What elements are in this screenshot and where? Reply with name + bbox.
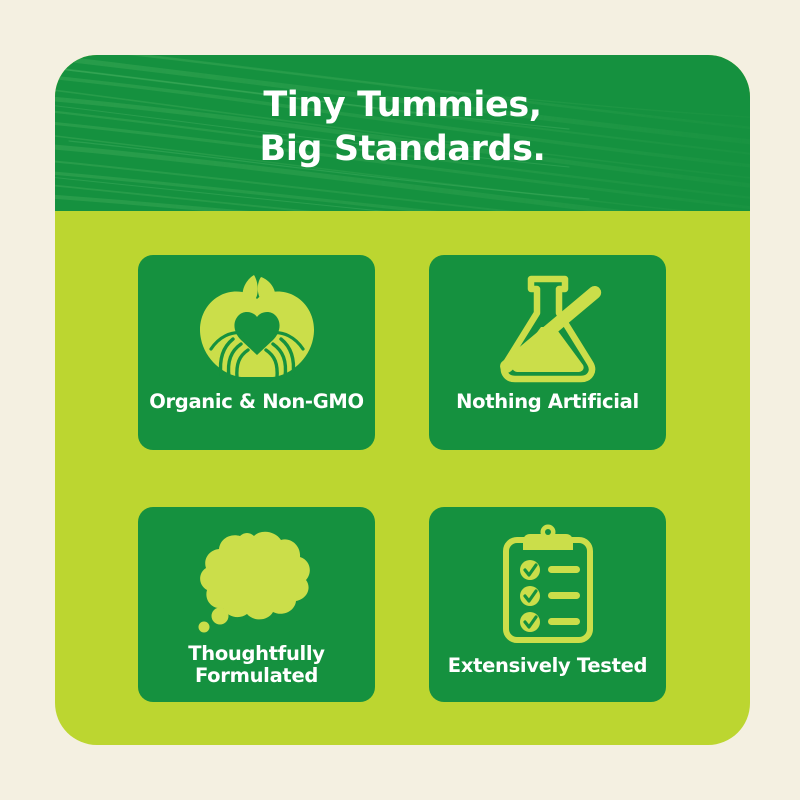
icon-container [191,263,323,391]
headline-line-1: Tiny Tummies, [263,85,541,125]
card-organic-non-gmo[interactable]: Organic & Non-GMO [138,255,375,450]
headline-line-2: Big Standards. [55,127,750,171]
card-thoughtfully-formulated[interactable]: Thoughtfully Formulated [138,507,375,702]
icon-container [194,515,320,643]
card-label-line-1: Thoughtfully [188,642,324,665]
card-label: Thoughtfully Formulated [180,643,332,687]
card-label-line-2: Formulated [195,664,318,687]
icon-container [496,515,600,655]
standards-panel: Tiny Tummies, Big Standards. [55,55,750,745]
standards-grid: Organic & Non-GMO Nothing Artificial [138,255,666,702]
no-flask-icon [489,269,607,385]
poster-canvas: Tiny Tummies, Big Standards. [0,0,800,800]
apple-hands-heart-icon [191,271,323,383]
page-title: Tiny Tummies, Big Standards. [55,83,750,172]
icon-container [489,263,607,391]
clipboard-checklist-icon [496,524,600,646]
panel-header: Tiny Tummies, Big Standards. [55,55,750,211]
card-label: Extensively Tested [440,655,655,677]
card-label: Nothing Artificial [448,391,647,413]
card-label: Organic & Non-GMO [141,391,372,413]
card-nothing-artificial[interactable]: Nothing Artificial [429,255,666,450]
card-extensively-tested[interactable]: Extensively Tested [429,507,666,702]
thought-bubble-icon [194,524,320,634]
